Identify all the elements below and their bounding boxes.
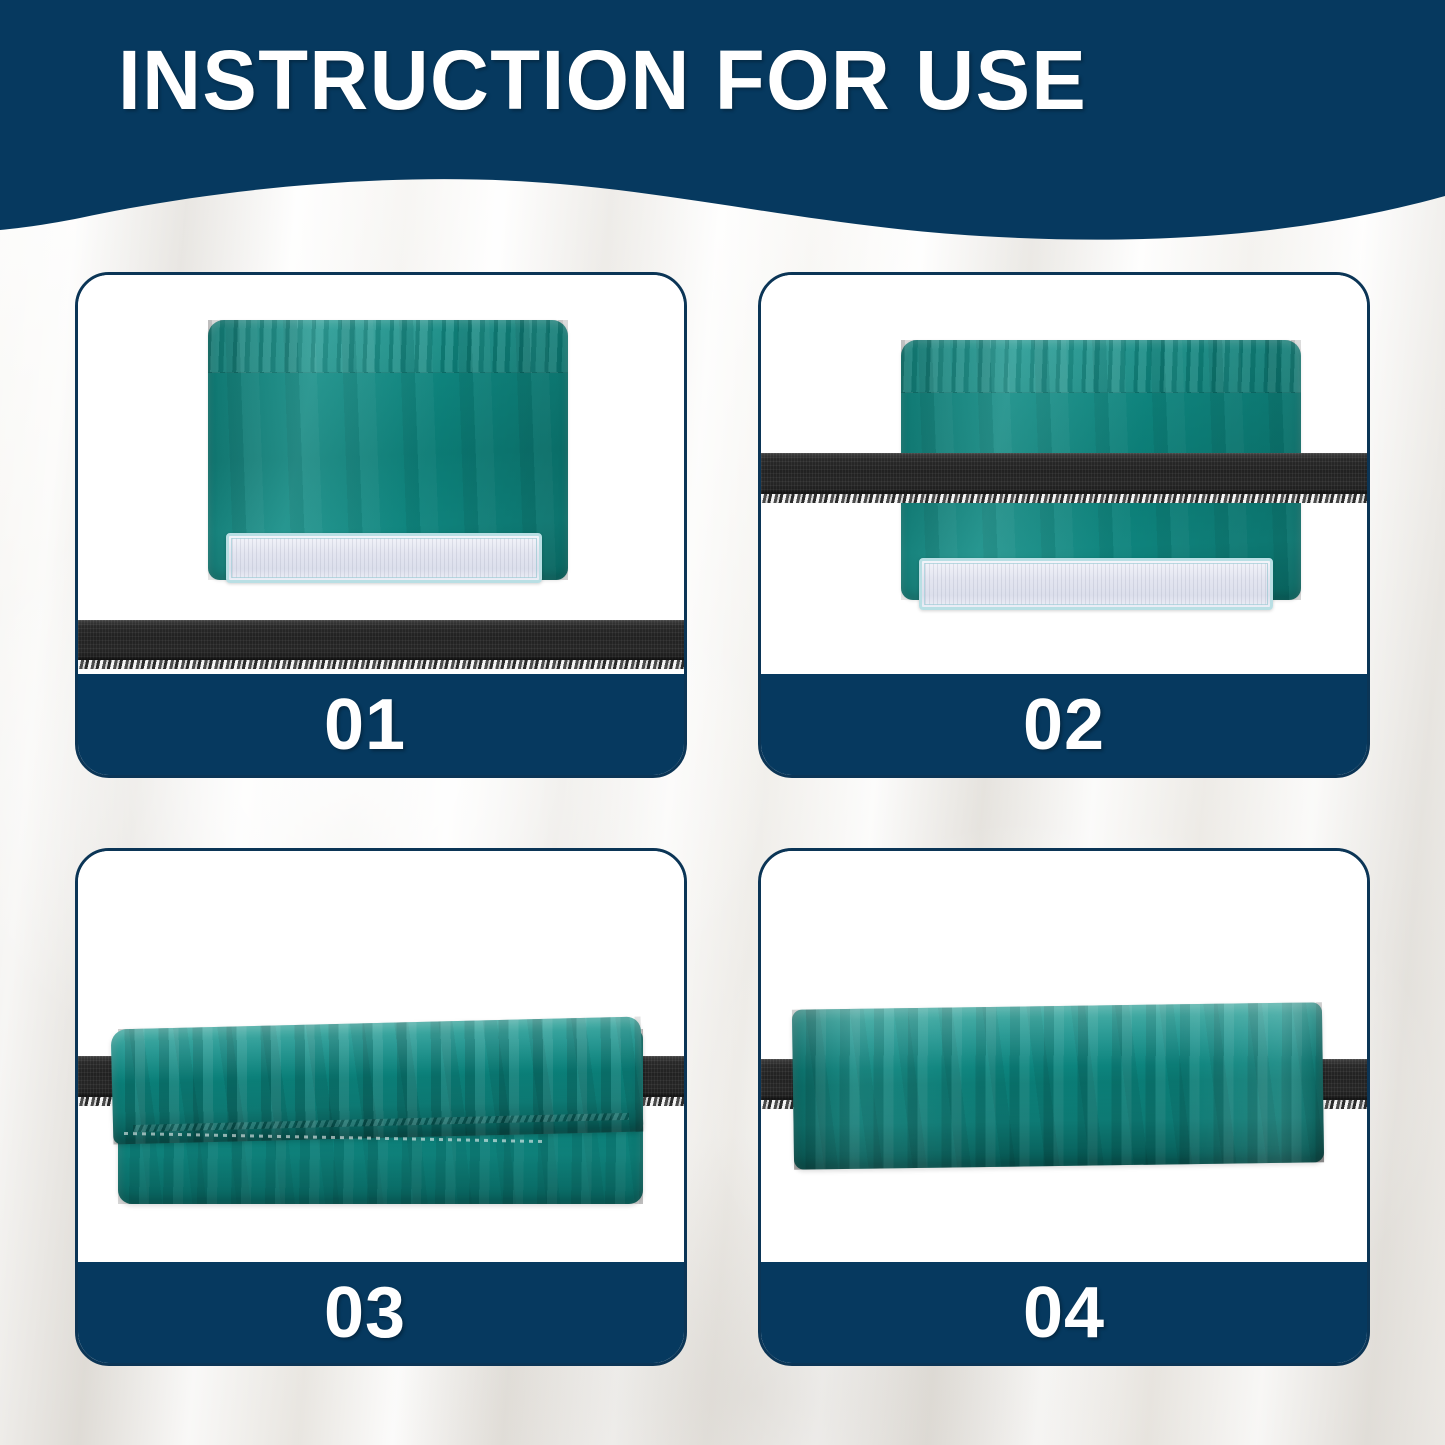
- step-number-02: 02: [1023, 689, 1105, 761]
- step-footer-04: 04: [761, 1262, 1367, 1363]
- elastic-gather-band-01: [208, 320, 568, 373]
- seat-belt-strap-02: [761, 453, 1367, 503]
- step-number-01: 01: [324, 689, 406, 761]
- step-photo-01: [78, 275, 684, 674]
- infographic-root: INSTRUCTION FOR USE 01: [0, 0, 1445, 1445]
- step-card-04[interactable]: 04: [758, 848, 1370, 1366]
- velcro-strip-01: [226, 533, 542, 583]
- cover-end-shading-04: [792, 1002, 1324, 1169]
- fabric-gather-texture-04: [792, 1002, 1324, 1169]
- step-photo-04: [761, 851, 1367, 1262]
- step-card-01[interactable]: 01: [75, 272, 687, 778]
- zigzag-stitch-03: [133, 1113, 629, 1132]
- step-number-04: 04: [1023, 1277, 1105, 1349]
- elastic-gather-band-02: [901, 340, 1301, 393]
- cover-shading-upper-03: [111, 1017, 644, 1145]
- step-photo-03: [78, 851, 684, 1262]
- step-number-03: 03: [324, 1277, 406, 1349]
- fabric-gather-texture-upper-03: [111, 1017, 644, 1145]
- page-title: INSTRUCTION FOR USE: [118, 38, 1311, 122]
- cover-shading-04: [792, 1002, 1324, 1169]
- step-footer-03: 03: [78, 1262, 684, 1363]
- step-card-03[interactable]: 03: [75, 848, 687, 1366]
- velcro-strip-02: [919, 558, 1273, 610]
- step-footer-02: 02: [761, 674, 1367, 775]
- teal-cover-upper-roll-03: [111, 1017, 644, 1145]
- teal-cover-wrapped-04: [792, 1002, 1324, 1169]
- seat-belt-strap-01: [78, 620, 684, 669]
- header-banner: INSTRUCTION FOR USE: [0, 0, 1445, 262]
- steps-grid: 01 02: [75, 272, 1370, 1372]
- step-photo-02: [761, 275, 1367, 674]
- step-footer-01: 01: [78, 674, 684, 775]
- step-card-02[interactable]: 02: [758, 272, 1370, 778]
